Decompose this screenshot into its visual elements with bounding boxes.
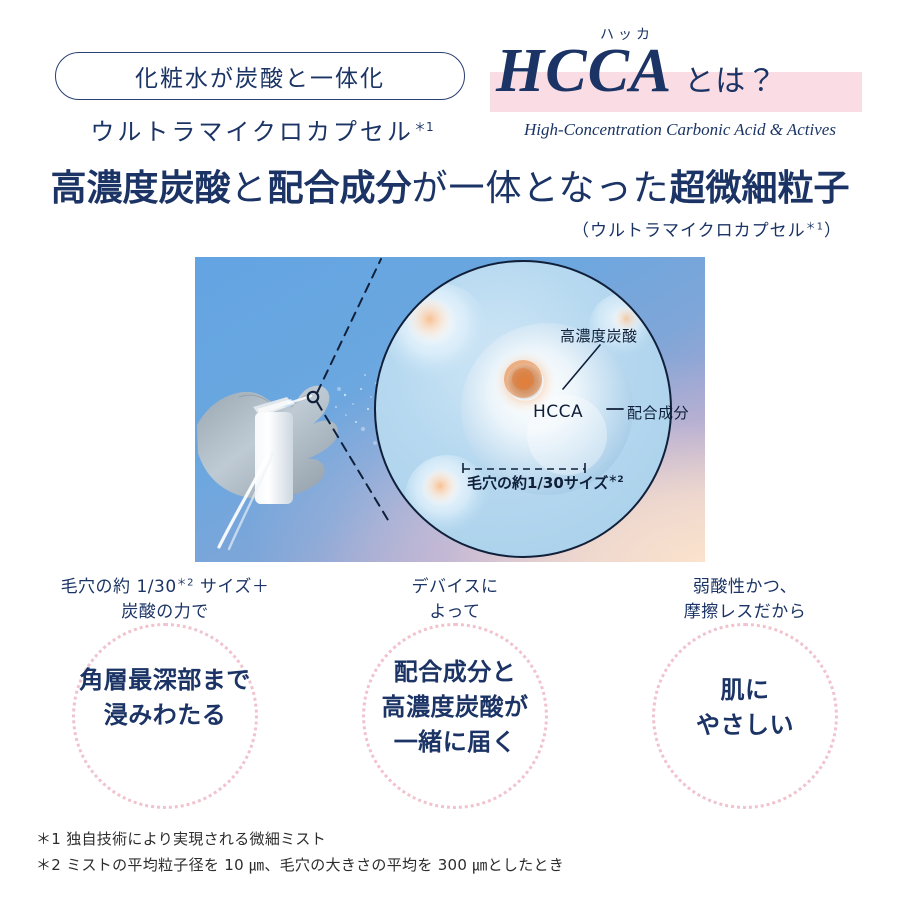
benefit-caption-ref: ＊2	[177, 577, 194, 588]
benefit-caption-line2: よって	[429, 602, 480, 622]
benefit-caption-line1b: サイズ＋	[194, 577, 269, 597]
hcca-lockup: ハッカ HCCA とは？ High-Concentration Carbonic…	[490, 24, 880, 152]
infographic-page: 化粧水が炭酸と一体化 ウルトラマイクロカプセル＊1 ハッカ HCCA とは？ H…	[0, 0, 900, 900]
benefit-caption-line1: 毛穴の約 1/30	[61, 577, 177, 597]
ultra-microcapsule-text: ウルトラマイクロカプセル	[90, 118, 414, 146]
page-headline: 高濃度炭酸と配合成分が一体となった超微細粒子	[0, 168, 900, 209]
benefit-caption-line1: 弱酸性かつ、	[693, 577, 797, 597]
header: 化粧水が炭酸と一体化 ウルトラマイクロカプセル＊1 ハッカ HCCA とは？ H…	[0, 0, 900, 160]
benefit-caption: デバイスに よって	[305, 575, 605, 624]
headline-part-united: が一体となった	[412, 168, 670, 209]
benefit-caption: 毛穴の約 1/30＊2 サイズ＋ 炭酸の力で	[15, 575, 315, 624]
hcca-particle-diagram: 高濃度炭酸 HCCA 配合成分 毛穴の約1/30サイズ＊2	[195, 257, 705, 562]
headline-subnote-open: （ウルトラマイクロカプセル	[572, 221, 806, 241]
benefit-item-penetration: 毛穴の約 1/30＊2 サイズ＋ 炭酸の力で 角層最深部まで 浸みわたる	[15, 575, 315, 810]
headline-subnote: （ウルトラマイクロカプセル＊1）	[0, 216, 900, 241]
footnote-2: ＊2 ミストの平均粒子径を 10 ㎛、毛穴の大きさの平均を 300 ㎛としたとき	[36, 852, 866, 878]
benefit-headline-line2: 高濃度炭酸が	[382, 693, 529, 721]
label-pore-scale: 毛穴の約1/30サイズ＊2	[467, 472, 624, 493]
headline-part-ingredients: 配合成分	[268, 168, 412, 209]
label-pore-scale-ref: ＊2	[608, 475, 623, 485]
hcca-title-row: HCCA とは？	[490, 40, 870, 120]
benefit-caption-line1: デバイスに	[412, 577, 499, 597]
benefit-headline-line1: 配合成分と	[394, 658, 517, 686]
ultra-microcapsule-footnote-ref: ＊1	[414, 120, 434, 134]
benefit-caption-line2: 摩擦レスだから	[684, 602, 807, 622]
benefit-item-gentle: 弱酸性かつ、 摩擦レスだから 肌に やさしい	[595, 575, 895, 810]
tagline-pill: 化粧水が炭酸と一体化	[55, 52, 465, 100]
benefit-headline-line2: やさしい	[696, 711, 794, 739]
headline-part-ultrafine-particle: 超微細粒子	[669, 168, 849, 209]
headline-part-high-carbonic: 高濃度炭酸	[51, 168, 231, 209]
footnotes: ＊1 独自技術により実現される微細ミスト ＊2 ミストの平均粒子径を 10 ㎛、…	[36, 826, 866, 879]
footnote-1: ＊1 独自技術により実現される微細ミスト	[36, 826, 866, 852]
benefit-caption-line2: 炭酸の力で	[121, 602, 209, 622]
label-high-concentration-carbonic: 高濃度炭酸	[560, 325, 638, 346]
benefit-headline-line1: 角層最深部まで	[79, 666, 251, 694]
tagline-pill-label: 化粧水が炭酸と一体化	[135, 59, 385, 93]
label-pore-scale-text: 毛穴の約1/30サイズ	[467, 474, 608, 492]
label-active-ingredients: 配合成分	[627, 402, 689, 423]
hcca-wordmark: HCCA	[490, 40, 672, 102]
ultra-microcapsule-label: ウルトラマイクロカプセル＊1	[52, 112, 472, 147]
benefit-headline: 配合成分と 高濃度炭酸が 一緒に届く	[305, 655, 605, 759]
benefit-headline: 肌に やさしい	[595, 673, 895, 743]
benefit-caption: 弱酸性かつ、 摩擦レスだから	[595, 575, 895, 624]
headline-subnote-ref: ＊1	[806, 221, 824, 232]
benefit-headline-line2: 浸みわたる	[104, 701, 227, 729]
benefit-item-delivery: デバイスに よって 配合成分と 高濃度炭酸が 一緒に届く	[305, 575, 605, 810]
hcca-subtitle: High-Concentration Carbonic Acid & Activ…	[490, 120, 870, 140]
hcca-question-suffix: とは？	[684, 56, 777, 100]
label-hcca-core: HCCA	[533, 402, 583, 422]
benefit-circles: 毛穴の約 1/30＊2 サイズ＋ 炭酸の力で 角層最深部まで 浸みわたる デバイ…	[0, 575, 900, 810]
headline-part-to: と	[231, 168, 268, 209]
headline-subnote-close: ）	[824, 221, 842, 241]
benefit-headline: 角層最深部まで 浸みわたる	[15, 663, 315, 733]
benefit-headline-line3: 一緒に届く	[394, 728, 517, 756]
benefit-headline-line1: 肌に	[721, 676, 770, 704]
